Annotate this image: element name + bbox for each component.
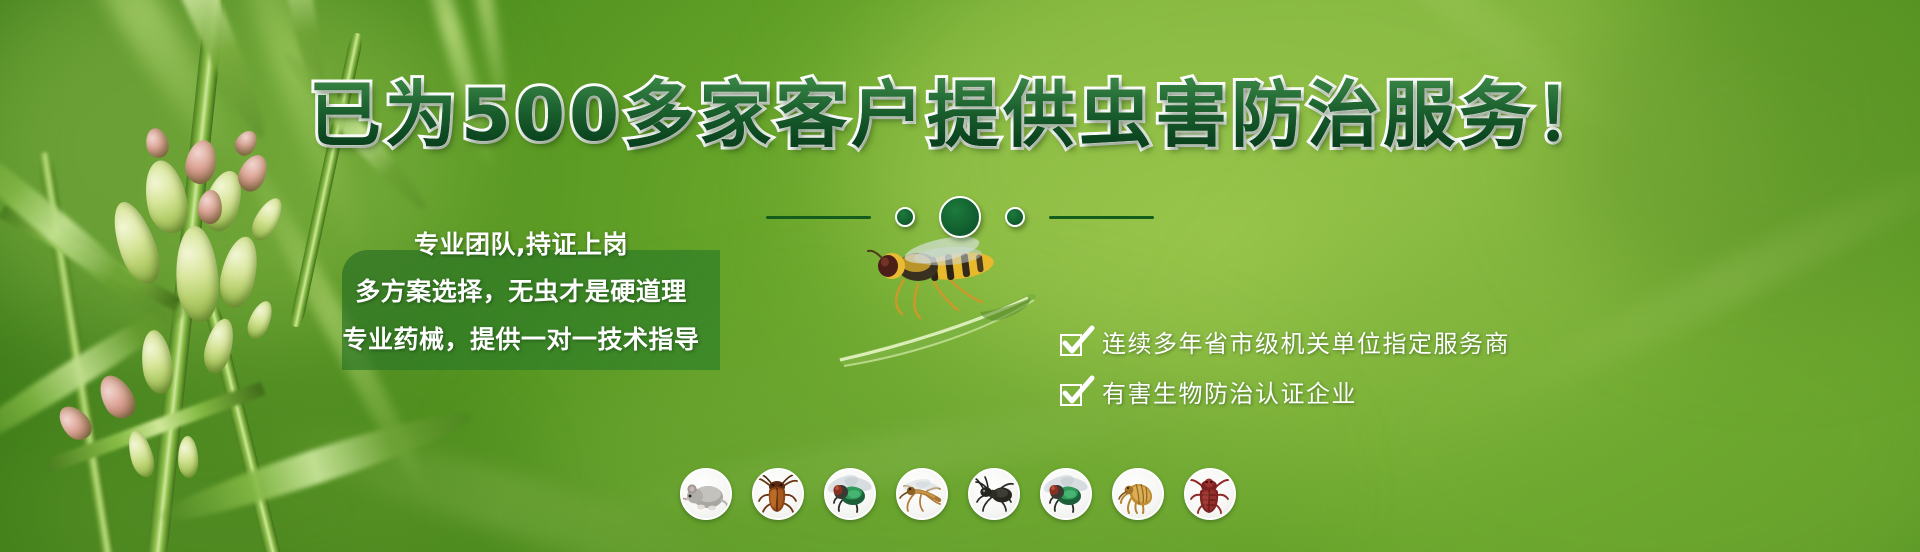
mosquito-icon[interactable]: [896, 468, 948, 520]
flea-icon[interactable]: [1112, 468, 1164, 520]
plant-bud: [246, 194, 287, 245]
cockroach-icon[interactable]: [752, 468, 804, 520]
plant-leaf: [153, 400, 477, 534]
ant-icon[interactable]: [968, 468, 1020, 520]
divider-line-right: [1049, 216, 1154, 219]
hoverfly-illustration: [830, 240, 1090, 370]
fly-icon[interactable]: [824, 468, 876, 520]
decorative-divider: [766, 196, 1154, 238]
plant-bud: [177, 436, 198, 479]
divider-dot-small-right: [1005, 207, 1025, 227]
panel-line-3: 专业药械，提供一对一技术指导: [330, 316, 712, 364]
bullet-item: 有害生物防治认证企业: [1060, 380, 1510, 408]
divider-dot-large: [939, 196, 981, 238]
bullet-label: 连续多年省市级机关单位指定服务商: [1102, 330, 1510, 358]
bedbug-icon[interactable]: [1184, 468, 1236, 520]
fly-icon[interactable]: [1040, 468, 1092, 520]
checkbox-checked-icon: [1060, 381, 1088, 407]
bullet-label: 有害生物防治认证企业: [1102, 380, 1357, 408]
pest-icon-row: [680, 468, 1236, 520]
bokeh-highlight: [1560, 0, 1920, 320]
certification-bullet-list: 连续多年省市级机关单位指定服务商 有害生物防治认证企业: [1060, 330, 1510, 408]
divider-dot-small-left: [895, 207, 915, 227]
plant-bud: [215, 233, 263, 310]
bullet-item: 连续多年省市级机关单位指定服务商: [1060, 330, 1510, 358]
plant-bud: [93, 370, 142, 425]
features-panel: 专业团队,持证上岗 多方案选择，无虫才是硬道理 专业药械，提供一对一技术指导: [330, 208, 730, 380]
mouse-icon[interactable]: [680, 468, 732, 520]
panel-line-1: 专业团队,持证上岗: [330, 222, 712, 268]
pest-control-hero-banner: 已为500多家客户提供虫害防治服务！ 已为500多家客户提供虫害防治服务！ 专业…: [0, 0, 1920, 552]
blurred-leaf-blade: [1442, 126, 1920, 437]
banner-headline-outline: 已为500多家客户提供虫害防治服务！: [0, 76, 1920, 154]
divider-line-left: [766, 216, 871, 219]
panel-line-2: 多方案选择，无虫才是硬道理: [330, 268, 712, 316]
checkbox-checked-icon: [1060, 331, 1088, 357]
plant-bud: [243, 298, 277, 343]
